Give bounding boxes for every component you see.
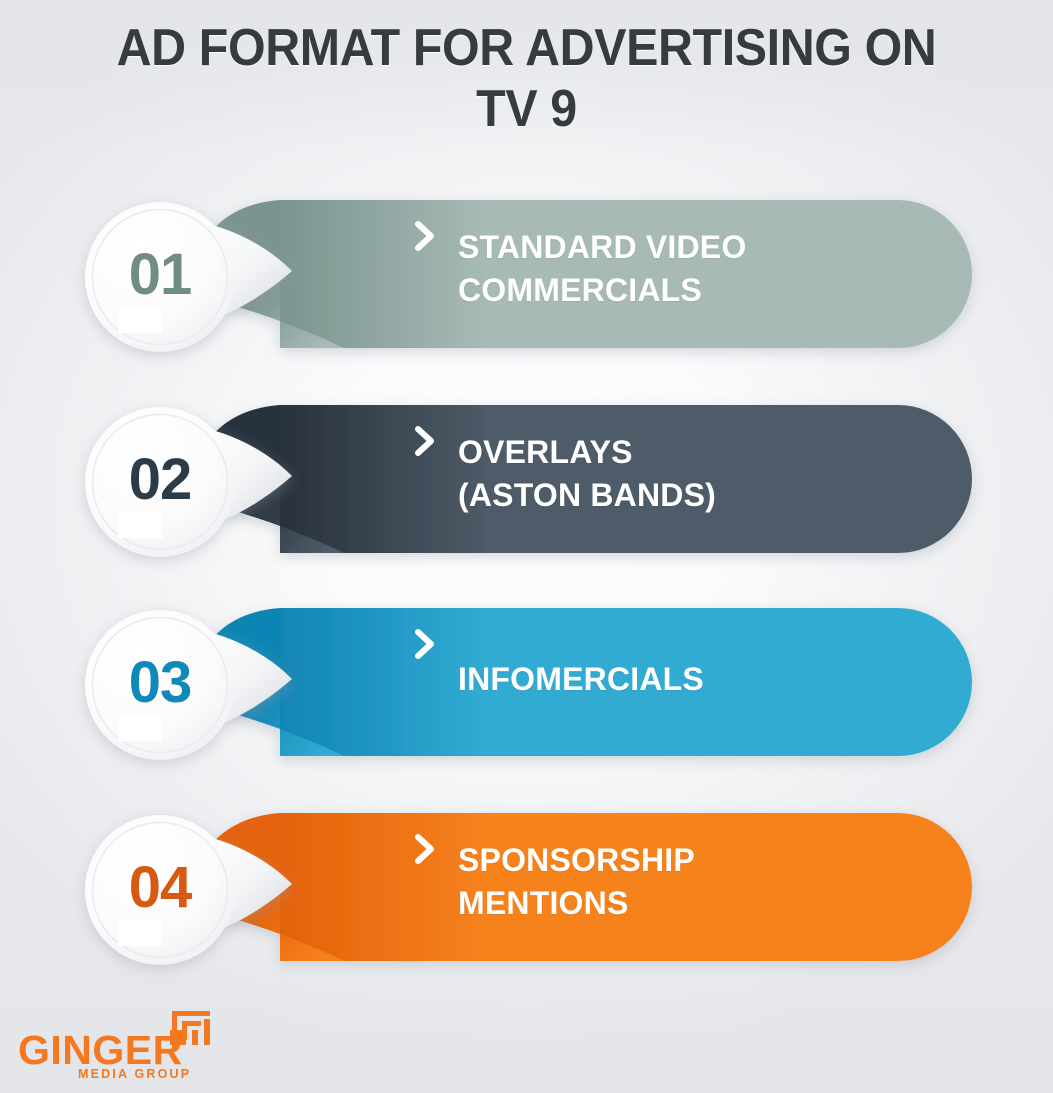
infographic-page: AD FORMAT FOR ADVERTISING ON TV 9 01STAN… bbox=[0, 0, 1053, 1093]
item-label: INFOMERCIALS bbox=[458, 658, 958, 701]
ad-format-item-01[interactable]: 01STANDARD VIDEO COMMERCIALS bbox=[0, 185, 1053, 400]
item-label: STANDARD VIDEO COMMERCIALS bbox=[458, 226, 958, 312]
page-title: AD FORMAT FOR ADVERTISING ON TV 9 bbox=[83, 18, 969, 141]
stepped-square-mark-icon bbox=[168, 1008, 214, 1050]
logo-tagline: MEDIA GROUP bbox=[78, 1067, 191, 1081]
ad-format-item-02[interactable]: 02OVERLAYS (ASTON BANDS) bbox=[0, 390, 1053, 605]
item-label: SPONSORSHIP MENTIONS bbox=[458, 839, 958, 925]
ad-format-item-03[interactable]: 03INFOMERCIALS bbox=[0, 593, 1053, 808]
chevron-right-icon bbox=[412, 424, 438, 458]
item-label: OVERLAYS (ASTON BANDS) bbox=[458, 431, 958, 517]
chevron-right-icon bbox=[412, 832, 438, 866]
chevron-right-icon bbox=[412, 219, 438, 253]
ad-format-item-04[interactable]: 04SPONSORSHIP MENTIONS bbox=[0, 798, 1053, 1013]
chevron-right-icon bbox=[412, 627, 438, 661]
brand-logo: GINGER MEDIA GROUP bbox=[18, 1005, 248, 1083]
